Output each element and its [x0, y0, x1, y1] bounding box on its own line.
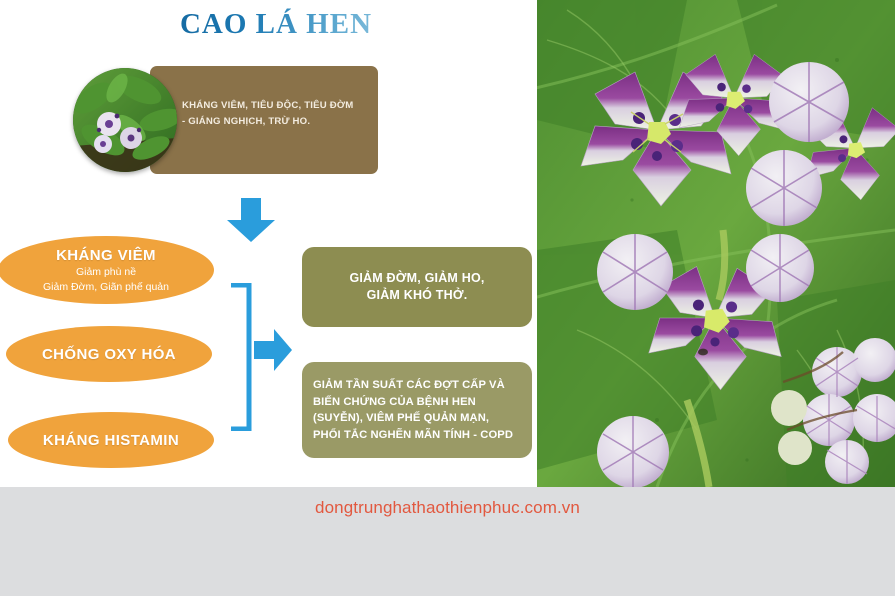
herb-properties-line-1: KHÁNG VIÊM, TIÊU ĐỘC, TIÊU ĐỜM [182, 98, 378, 114]
result-line-4: PHỔI TẮC NGHẼN MÃN TÍNH - COPD [313, 427, 513, 444]
infographic-canvas: CAO LÁ HEN KHÁNG VIÊM, TIÊU ĐỘC, TIÊU ĐỜ… [0, 0, 895, 487]
effect-title: KHÁNG VIÊM [56, 247, 156, 264]
result-line-3: (SUYỄN), VIÊM PHẾ QUẢN MẠN, [313, 410, 513, 427]
effect-oval-khang-viem[interactable]: KHÁNG VIÊM Giảm phù nề Giảm Đờm, Giãn ph… [0, 236, 214, 304]
herb-properties-banner: KHÁNG VIÊM, TIÊU ĐỘC, TIÊU ĐỜM - GIÁNG N… [150, 66, 378, 174]
result-text: GIẢM ĐỜM, GIẢM HO, GIẢM KHÓ THỞ. [349, 270, 484, 304]
effect-title: CHỐNG OXY HÓA [42, 346, 176, 363]
result-text: GIẢM TẦN SUẤT CÁC ĐỢT CẤP VÀ BIẾN CHỨNG … [302, 377, 513, 443]
plant-circle-photo [73, 68, 177, 172]
effect-oval-khang-histamin[interactable]: KHÁNG HISTAMIN [8, 412, 214, 468]
herb-properties-text: KHÁNG VIÊM, TIÊU ĐỘC, TIÊU ĐỜM - GIÁNG N… [182, 98, 378, 130]
arrow-down-icon [225, 196, 277, 244]
result-line-2: BIẾN CHỨNG CỦA BỆNH HEN [313, 394, 513, 411]
result-line-1: GIẢM ĐỜM, GIẢM HO, [349, 270, 484, 287]
result-box-giam-tan-suat: GIẢM TẦN SUẤT CÁC ĐỢT CẤP VÀ BIẾN CHỨNG … [302, 362, 532, 458]
herb-properties-line-2: - GIÁNG NGHỊCH, TRỪ HO. [182, 114, 378, 130]
crown-flower-photo [537, 0, 895, 487]
effect-subtitle-2: Giảm Đờm, Giãn phế quản [43, 281, 169, 294]
arrow-right-icon [252, 327, 294, 373]
effect-oval-chong-oxy-hoa[interactable]: CHỐNG OXY HÓA [6, 326, 212, 382]
watermark-url: dongtrunghathaothienphuc.com.vn [0, 498, 895, 518]
page-title: CAO LÁ HEN [166, 8, 386, 41]
result-line-1: GIẢM TẦN SUẤT CÁC ĐỢT CẤP VÀ [313, 377, 513, 394]
effect-title: KHÁNG HISTAMIN [43, 432, 179, 449]
result-line-2: GIẢM KHÓ THỞ. [349, 287, 484, 304]
effect-subtitle-1: Giảm phù nề [76, 266, 136, 279]
infographic-page: CAO LÁ HEN KHÁNG VIÊM, TIÊU ĐỘC, TIÊU ĐỜ… [0, 0, 895, 596]
result-box-giam-dom: GIẢM ĐỜM, GIẢM HO, GIẢM KHÓ THỞ. [302, 247, 532, 327]
